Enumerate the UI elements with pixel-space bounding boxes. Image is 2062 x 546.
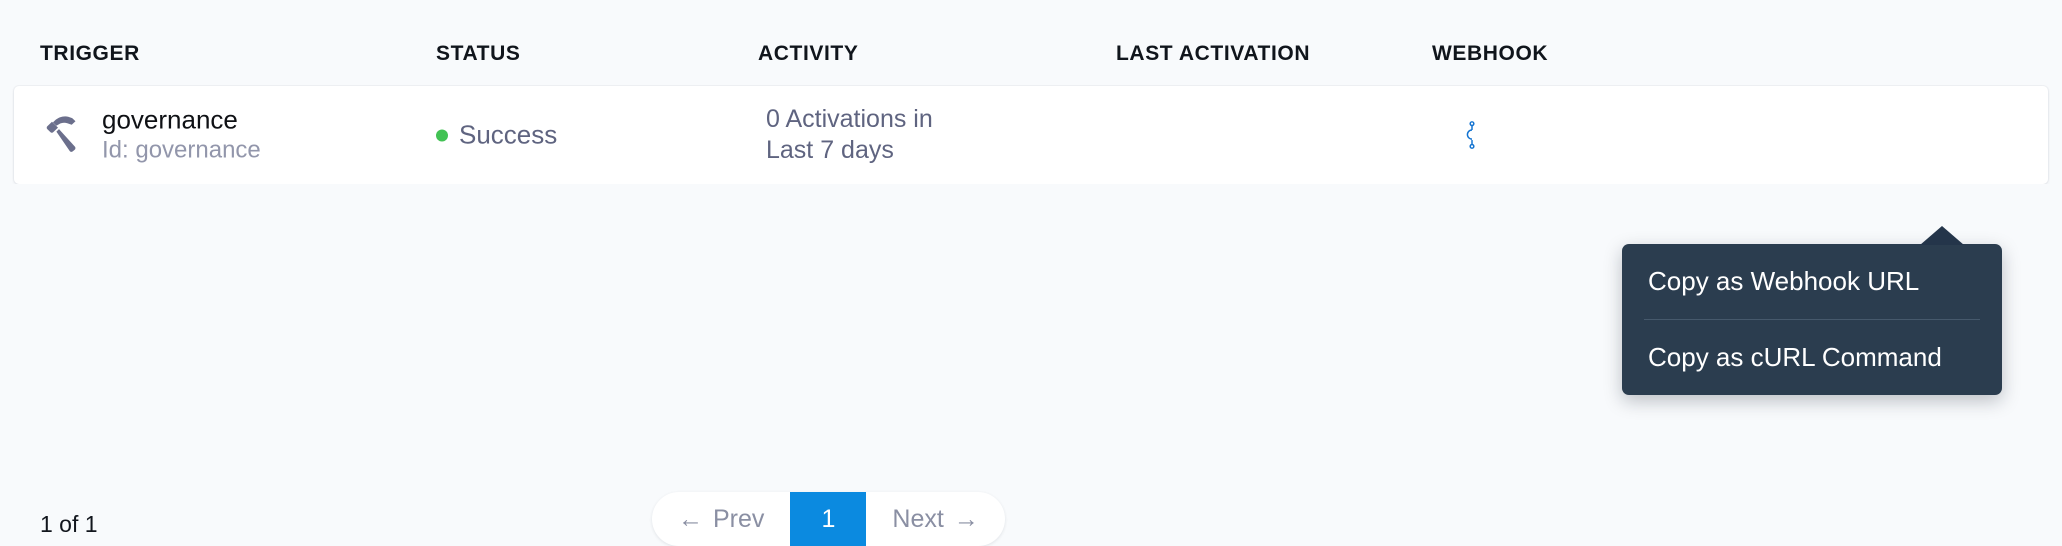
status-dot-icon [436, 129, 448, 141]
pagination-page-1[interactable]: 1 [790, 492, 866, 546]
arrow-right-icon: → [954, 507, 979, 532]
column-header-trigger: TRIGGER [40, 42, 140, 66]
activity-line-2: Last 7 days [766, 135, 933, 166]
popup-arrow [1920, 226, 1964, 245]
pagination-prev-label: Prev [713, 505, 764, 534]
menu-item-copy-curl-command[interactable]: Copy as cURL Command [1622, 320, 2002, 395]
column-header-last-activation: LAST ACTIVATION [1116, 42, 1310, 66]
column-header-status: STATUS [436, 42, 520, 66]
pagination-next-label: Next [892, 505, 943, 534]
activity-line-1: 0 Activations in [766, 104, 933, 135]
hammer-icon [40, 111, 88, 159]
status-label: Success [459, 120, 557, 151]
trigger-id: Id: governance [102, 138, 261, 165]
trigger-cell: governance Id: governance [40, 106, 261, 165]
column-header-activity: ACTIVITY [758, 42, 858, 66]
pagination: ← Prev 1 Next → [652, 492, 1005, 546]
webhook-button[interactable] [1454, 117, 1490, 153]
activity-cell: 0 Activations in Last 7 days [766, 104, 933, 167]
trigger-name: governance [102, 106, 261, 135]
trigger-text-block: governance Id: governance [102, 106, 261, 165]
arrow-left-icon: ← [678, 507, 703, 532]
pagination-next-button[interactable]: Next → [866, 492, 1004, 546]
column-header-webhook: WEBHOOK [1432, 42, 1548, 66]
status-cell: Success [436, 120, 557, 151]
table-row[interactable]: governance Id: governance Success 0 Acti… [14, 86, 2048, 184]
webhook-icon [1461, 121, 1483, 149]
webhook-context-menu: Copy as Webhook URL Copy as cURL Command [1622, 244, 2002, 395]
menu-item-copy-webhook-url[interactable]: Copy as Webhook URL [1622, 244, 2002, 319]
pagination-prev-button[interactable]: ← Prev [652, 492, 790, 546]
result-count: 1 of 1 [40, 511, 98, 538]
